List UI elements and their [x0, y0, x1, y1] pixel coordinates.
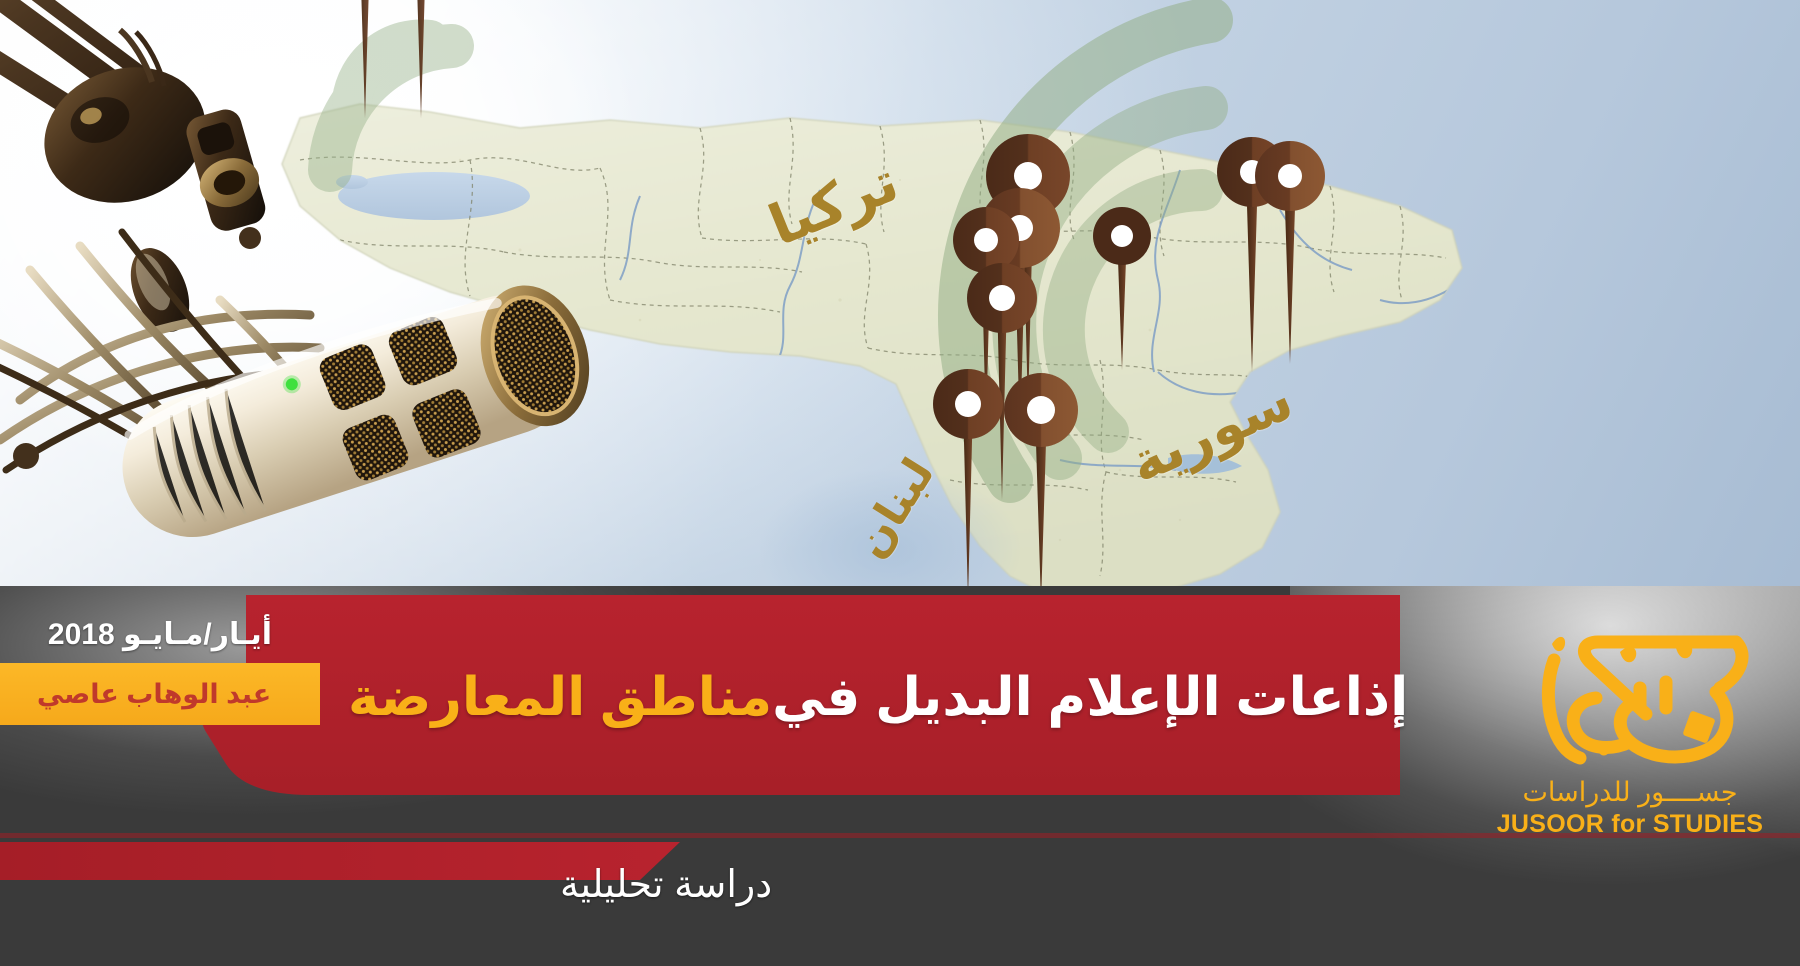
logo-name-arabic: جســــور للدراسات: [1480, 774, 1780, 810]
jusoor-wordmark-icon: [1480, 596, 1800, 786]
pin-damascus: [933, 369, 1003, 600]
author-name: عبد الوهاب عاصي: [0, 663, 308, 725]
cover-title: إذاعات الإعلام البديل في مناطق المعارضة: [330, 645, 1268, 750]
cover-title-part-1: إذاعات الإعلام البديل في: [772, 667, 1408, 728]
cover-canvas: تركيا سورية لبنان: [0, 0, 1800, 966]
pin-east-pair: [1217, 137, 1325, 372]
logo-name-english: JUSOOR for STUDIES: [1480, 808, 1780, 840]
cover-title-highlight: مناطق المعارضة: [348, 667, 772, 728]
jusoor-logo[interactable]: جســــور للدراسات JUSOOR for STUDIES: [1480, 596, 1800, 866]
studio-microphone-illustration: [0, 0, 660, 610]
publication-date: أيـار/مـايـو 2018: [10, 606, 310, 662]
pin-daraa: [1004, 373, 1078, 604]
cover-subtitle: دراسة تحليلية: [560, 854, 990, 914]
pin-gaziantep: [1093, 207, 1151, 370]
